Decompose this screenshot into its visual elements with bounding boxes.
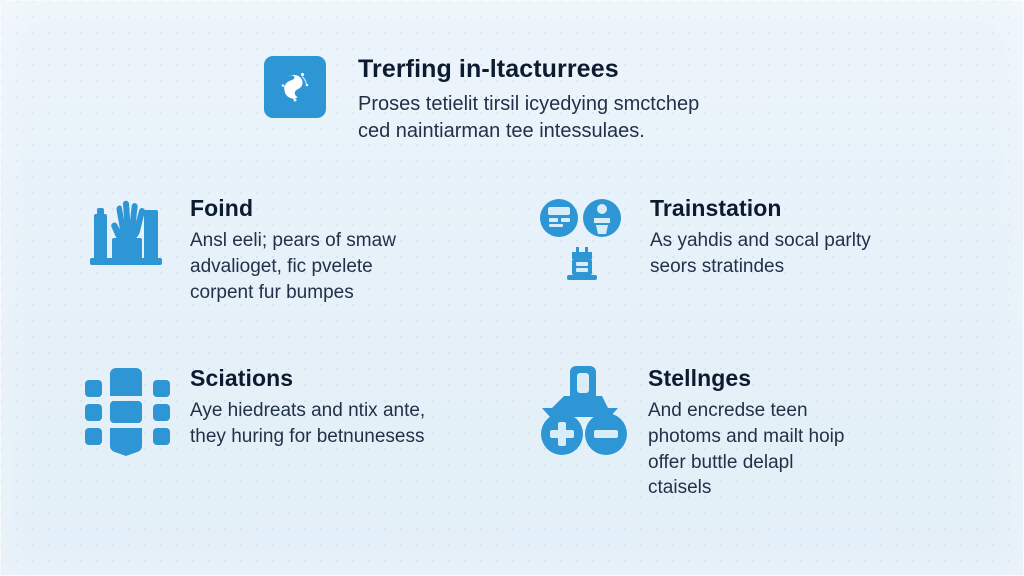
text-wrap-stellnges: Stellnges And encredse teen photoms and … <box>648 366 964 501</box>
text-wrap-trainstation: Trainstation As yahdis and socal parlty … <box>650 196 964 280</box>
icon-wrap-sciations <box>80 366 176 458</box>
grid-tiles-icon <box>83 366 173 458</box>
body-line: they huring for betnunesess <box>190 424 500 450</box>
text-wrap-foind: Foind Ansl eeli; pears of smaw advalioge… <box>190 196 486 305</box>
heading-sciations: Sciations <box>190 366 500 391</box>
icon-wrap-stellnges <box>534 366 632 458</box>
icon-wrap-trainstation <box>534 196 630 282</box>
icon-wrap-top <box>262 56 328 118</box>
heading-top: Trerfing in-ltacturrees <box>358 56 792 84</box>
feature-block-stellnges: Stellnges And encredse teen photoms and … <box>534 366 964 501</box>
icon-wrap-foind <box>86 196 168 272</box>
infographic-canvas: Trerfing in-ltacturrees Proses tetielit … <box>0 0 1024 576</box>
body-line: Proses tetielit tirsil icyedying smctche… <box>358 91 792 118</box>
globe-network-icon <box>264 56 326 118</box>
heading-stellnges: Stellnges <box>648 366 964 391</box>
machine-plus-minus-icon <box>536 366 630 458</box>
feature-block-top: Trerfing in-ltacturrees Proses tetielit … <box>262 56 792 145</box>
body-line: seors stratindes <box>650 254 964 280</box>
text-wrap-sciations: Sciations Aye hiedreats and ntix ante, t… <box>190 366 500 450</box>
body-foind: Ansl eeli; pears of smaw advalioget, fic… <box>190 228 486 305</box>
body-line: ced naintiarman tee intessulaes. <box>358 118 792 145</box>
body-line: And encredse teen <box>648 398 964 424</box>
factory-hand-icon <box>88 196 166 272</box>
feature-block-trainstation: Trainstation As yahdis and socal parlty … <box>534 196 964 282</box>
body-sciations: Aye hiedreats and ntix ante, they huring… <box>190 398 500 449</box>
transit-badges-icon <box>536 196 628 282</box>
body-line: advalioget, fic pvelete <box>190 254 486 280</box>
body-line: Ansl eeli; pears of smaw <box>190 228 486 254</box>
body-line: offer buttle delapl <box>648 450 964 476</box>
feature-block-foind: Foind Ansl eeli; pears of smaw advalioge… <box>86 196 486 305</box>
body-line: photoms and mailt hoip <box>648 424 964 450</box>
feature-block-sciations: Sciations Aye hiedreats and ntix ante, t… <box>80 366 500 458</box>
body-top: Proses tetielit tirsil icyedying smctche… <box>358 91 792 145</box>
heading-foind: Foind <box>190 196 486 221</box>
body-stellnges: And encredse teen photoms and mailt hoip… <box>648 398 964 501</box>
body-line: Aye hiedreats and ntix ante, <box>190 398 500 424</box>
body-trainstation: As yahdis and socal parlty seors stratin… <box>650 228 964 279</box>
body-line: As yahdis and socal parlty <box>650 228 964 254</box>
body-line: ctaisels <box>648 475 964 501</box>
heading-trainstation: Trainstation <box>650 196 964 221</box>
text-wrap-top: Trerfing in-ltacturrees Proses tetielit … <box>358 56 792 145</box>
body-line: corpent fur bumpes <box>190 280 486 306</box>
